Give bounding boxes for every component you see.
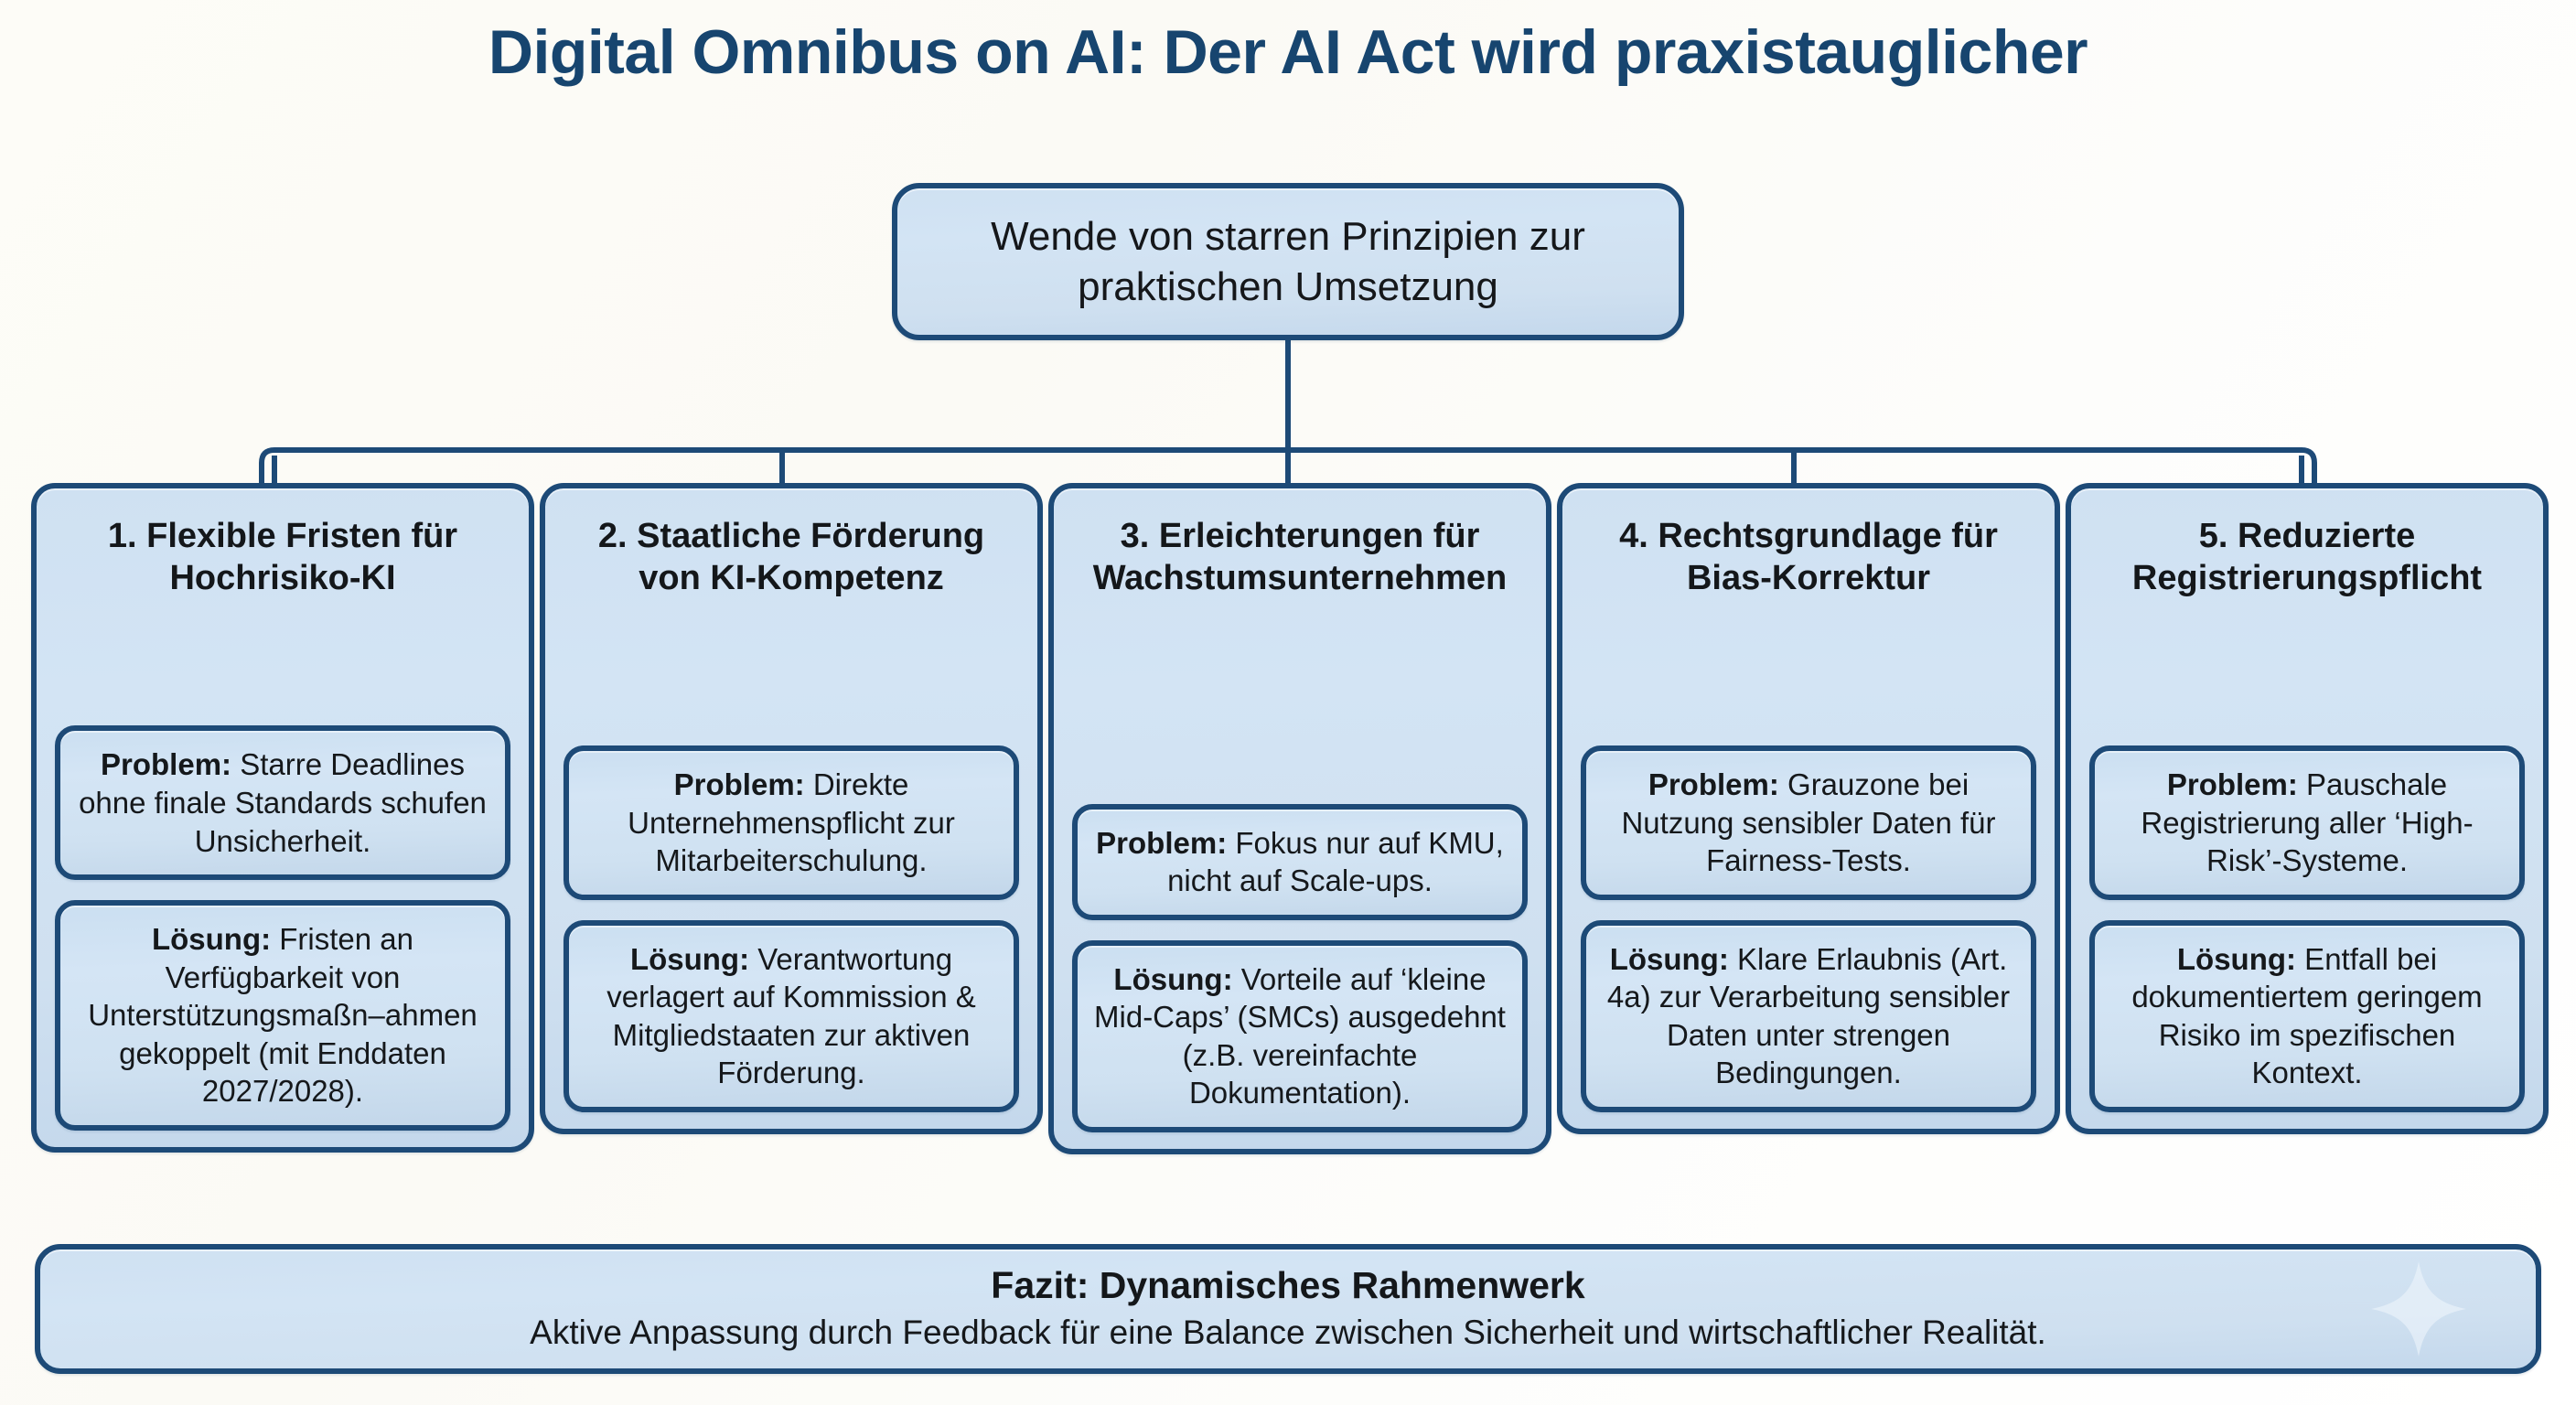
loesung-label: Lösung: bbox=[2177, 942, 2296, 976]
spacer bbox=[562, 599, 1021, 745]
pillar-1-problem: Problem: Starre Deadlines ohne finale St… bbox=[55, 725, 510, 880]
pillar-2-loesung-text: Lösung: Verantwortung verlagert auf Komm… bbox=[582, 940, 1001, 1092]
loesung-label: Lösung: bbox=[1610, 942, 1729, 976]
problem-label: Problem: bbox=[674, 767, 805, 801]
pillar-4-problem-text: Problem: Grauzone bei Nutzung sensibler … bbox=[1599, 766, 2018, 880]
spacer bbox=[1579, 599, 2038, 745]
conclusion-subtitle: Aktive Anpassung durch Feedback für eine… bbox=[530, 1312, 2046, 1354]
pillar-5-loesung-text: Lösung: Entfall bei dokumentiertem gerin… bbox=[2108, 940, 2506, 1092]
spacer bbox=[53, 599, 512, 725]
problem-label: Problem: bbox=[2167, 767, 2298, 801]
pillar-1: 1. Flexible Fristen für Hochrisiko-KI Pr… bbox=[31, 483, 534, 1153]
pillar-3-loesung-text: Lösung: Vorteile auf ‘kleine Mid-Caps’ (… bbox=[1090, 960, 1509, 1112]
root-node: Wende von starren Prinzipien zur praktis… bbox=[892, 183, 1684, 340]
pillar-5-problem: Problem: Pauschale Registrierung aller ‘… bbox=[2089, 745, 2525, 900]
spacer bbox=[2088, 599, 2527, 745]
problem-label: Problem: bbox=[1096, 826, 1227, 860]
pillar-1-loesung-text: Lösung: Fristen an Verfügbarkeit von Unt… bbox=[73, 920, 492, 1110]
spacer bbox=[1070, 599, 1529, 803]
loesung-label: Lösung: bbox=[152, 922, 271, 956]
pillar-5-title: 5. Reduzierte Registrierungspflicht bbox=[2091, 516, 2523, 599]
pillar-2-title: 2. Staatliche Förderung von KI-Kompetenz bbox=[565, 516, 1017, 599]
loesung-body: Fristen an Verfügbarkeit von Unterstützu… bbox=[88, 922, 478, 1108]
conclusion-banner: Fazit: Dynamisches Rahmenwerk Aktive Anp… bbox=[35, 1244, 2541, 1374]
problem-label: Problem: bbox=[1648, 767, 1779, 801]
pillar-2: 2. Staatliche Förderung von KI-Kompetenz… bbox=[540, 483, 1043, 1134]
pillar-2-loesung: Lösung: Verantwortung verlagert auf Komm… bbox=[563, 920, 1019, 1112]
pillar-4-loesung: Lösung: Klare Erlaubnis (Art. 4a) zur Ve… bbox=[1581, 920, 2036, 1112]
pillar-2-problem-text: Problem: Direkte Unternehmenspflicht zur… bbox=[582, 766, 1001, 880]
pillar-3-problem-text: Problem: Fokus nur auf KMU, nicht auf Sc… bbox=[1090, 824, 1509, 900]
pillar-1-title: 1. Flexible Fristen für Hochrisiko-KI bbox=[57, 516, 509, 599]
pillar-2-problem: Problem: Direkte Unternehmenspflicht zur… bbox=[563, 745, 1019, 900]
pillar-5-problem-text: Problem: Pauschale Registrierung aller ‘… bbox=[2108, 766, 2506, 880]
pillar-3-loesung: Lösung: Vorteile auf ‘kleine Mid-Caps’ (… bbox=[1072, 940, 1528, 1132]
pillar-5-loesung: Lösung: Entfall bei dokumentiertem gerin… bbox=[2089, 920, 2525, 1112]
conclusion-title: Fazit: Dynamisches Rahmenwerk bbox=[991, 1263, 1584, 1308]
pillar-5: 5. Reduzierte Registrierungspflicht Prob… bbox=[2066, 483, 2549, 1134]
root-node-label: Wende von starren Prinzipien zur praktis… bbox=[928, 211, 1648, 312]
pillar-3: 3. Erleichterungen für Wachstumsunterneh… bbox=[1048, 483, 1551, 1154]
problem-label: Problem: bbox=[101, 747, 231, 781]
diagram-canvas: Digital Omnibus on AI: Der AI Act wird p… bbox=[0, 0, 2576, 1405]
sparkle-icon bbox=[2369, 1260, 2468, 1358]
pillar-4: 4. Rechtsgrundlage für Bias-Korrektur Pr… bbox=[1557, 483, 2060, 1134]
page-title: Digital Omnibus on AI: Der AI Act wird p… bbox=[0, 20, 2576, 85]
pillar-1-problem-text: Problem: Starre Deadlines ohne finale St… bbox=[73, 745, 492, 860]
loesung-label: Lösung: bbox=[630, 942, 749, 976]
pillar-4-loesung-text: Lösung: Klare Erlaubnis (Art. 4a) zur Ve… bbox=[1599, 940, 2018, 1092]
pillar-3-problem: Problem: Fokus nur auf KMU, nicht auf Sc… bbox=[1072, 804, 1528, 920]
pillar-3-title: 3. Erleichterungen für Wachstumsunterneh… bbox=[1074, 516, 1526, 599]
pillar-4-problem: Problem: Grauzone bei Nutzung sensibler … bbox=[1581, 745, 2036, 900]
pillar-1-loesung: Lösung: Fristen an Verfügbarkeit von Unt… bbox=[55, 900, 510, 1131]
pillar-4-title: 4. Rechtsgrundlage für Bias-Korrektur bbox=[1583, 516, 2034, 599]
loesung-label: Lösung: bbox=[1113, 962, 1232, 996]
